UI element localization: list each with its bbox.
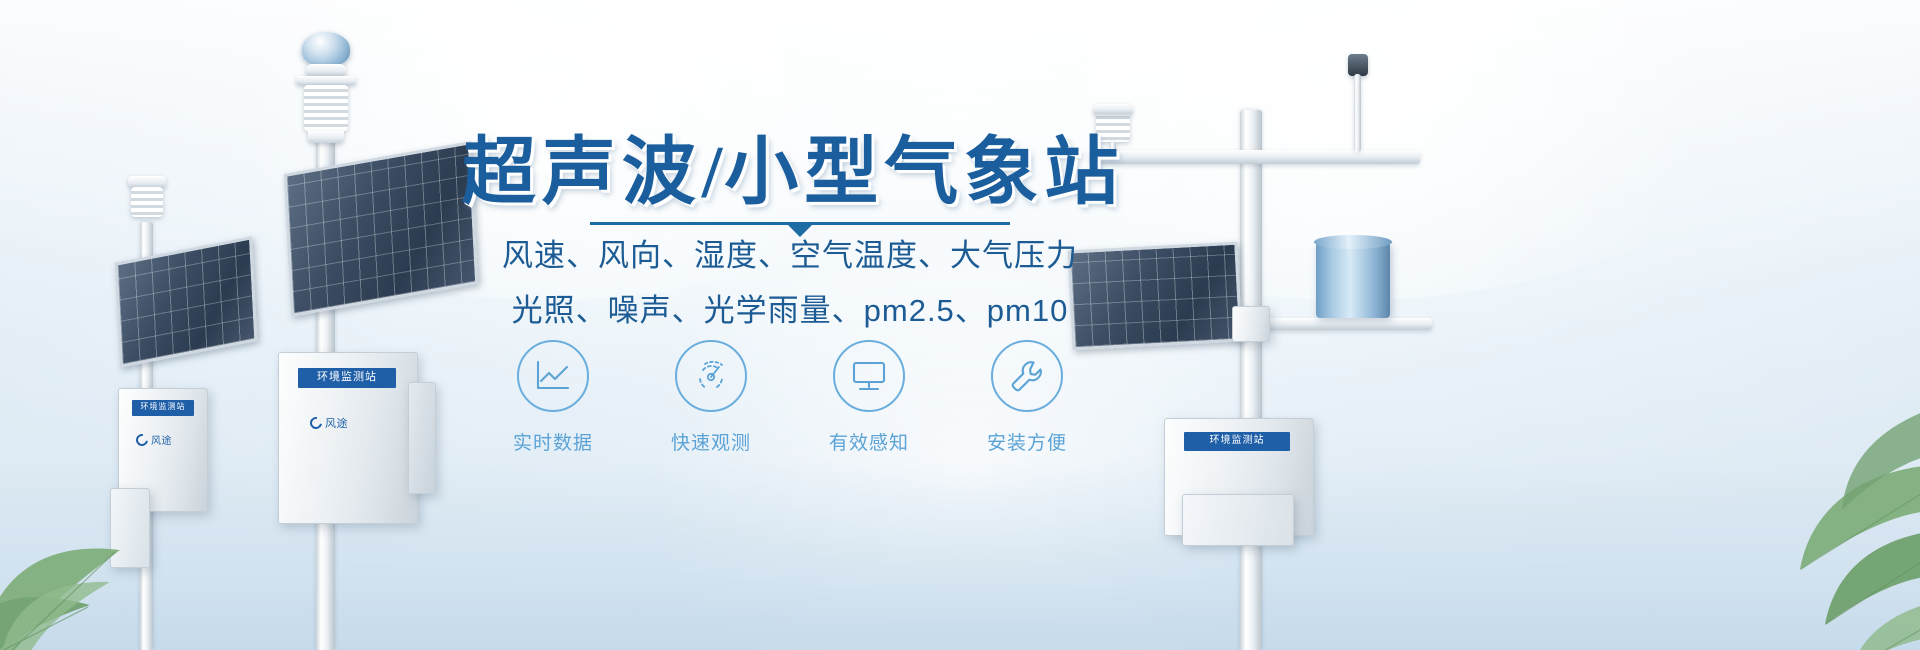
page-title: 超声波/小型气象站 <box>448 112 1138 219</box>
cabinet-label: 环境监测站 <box>298 368 396 388</box>
optical-rain-gauge <box>1316 242 1390 318</box>
sensor-brim <box>296 76 356 85</box>
feature-icon-ring <box>833 340 905 412</box>
leaf-decoration-right <box>1660 370 1920 650</box>
cabinet-lower-panel <box>1182 494 1294 546</box>
feature-label: 安装方便 <box>972 428 1082 455</box>
pole-collar <box>1232 306 1270 342</box>
lower-cross-arm <box>1252 318 1432 330</box>
banner-content: 超声波/小型气象站 风速、风向、湿度、空气温度、大气压力 光照、噪声、光学雨量、… <box>440 0 1140 650</box>
feature-label: 快速观测 <box>656 428 766 455</box>
solar-panel <box>115 236 258 368</box>
mast-pole <box>1240 110 1262 650</box>
feature-label: 实时数据 <box>498 428 608 455</box>
radiation-shield <box>304 85 348 131</box>
feature-item-easy-installation[interactable]: 安装方便 <box>972 340 1082 455</box>
sensor-stem <box>1354 74 1361 152</box>
anemometer-sensor <box>1348 54 1368 76</box>
wrench-icon <box>1008 357 1046 395</box>
monitor-icon <box>850 359 888 393</box>
shield-base <box>308 131 344 143</box>
radiation-shield <box>131 187 163 217</box>
brand-mark-icon <box>308 415 325 432</box>
sensor-collar <box>306 64 346 76</box>
subtitle-line-1: 风速、风向、湿度、空气温度、大气压力 <box>440 228 1140 283</box>
feature-icon-ring <box>991 340 1063 412</box>
feature-label: 有效感知 <box>814 428 924 455</box>
cabinet-label: 环境监测站 <box>132 400 194 416</box>
radar-gauge-icon <box>692 357 730 395</box>
brand-name: 风途 <box>325 415 348 431</box>
feature-item-effective-sensing[interactable]: 有效感知 <box>814 340 924 455</box>
feature-item-realtime-data[interactable]: 实时数据 <box>498 340 608 455</box>
feature-icon-ring <box>517 340 589 412</box>
cabinet-side-panel <box>408 382 436 494</box>
leaf-decoration-left <box>0 430 200 650</box>
product-banner: 环境监测站 风途 环境监测站 风途 <box>0 0 1920 650</box>
headline-part-1: 超声波 <box>462 132 702 214</box>
feature-list: 实时数据 快速观测 <box>440 340 1140 455</box>
brand-logo: 风途 <box>310 415 348 431</box>
line-chart-icon <box>534 359 572 393</box>
subtitle-block: 风速、风向、湿度、空气温度、大气压力 光照、噪声、光学雨量、pm2.5、pm10 <box>440 228 1140 338</box>
headline-separator: / <box>702 132 725 214</box>
cabinet-label: 环境监测站 <box>1184 432 1290 451</box>
feature-icon-ring <box>675 340 747 412</box>
feature-item-fast-observation[interactable]: 快速观测 <box>656 340 766 455</box>
headline-part-2: 小型气象站 <box>724 132 1124 214</box>
subtitle-line-2: 光照、噪声、光学雨量、pm2.5、pm10 <box>440 283 1140 338</box>
ultrasonic-dome-sensor <box>302 32 350 66</box>
